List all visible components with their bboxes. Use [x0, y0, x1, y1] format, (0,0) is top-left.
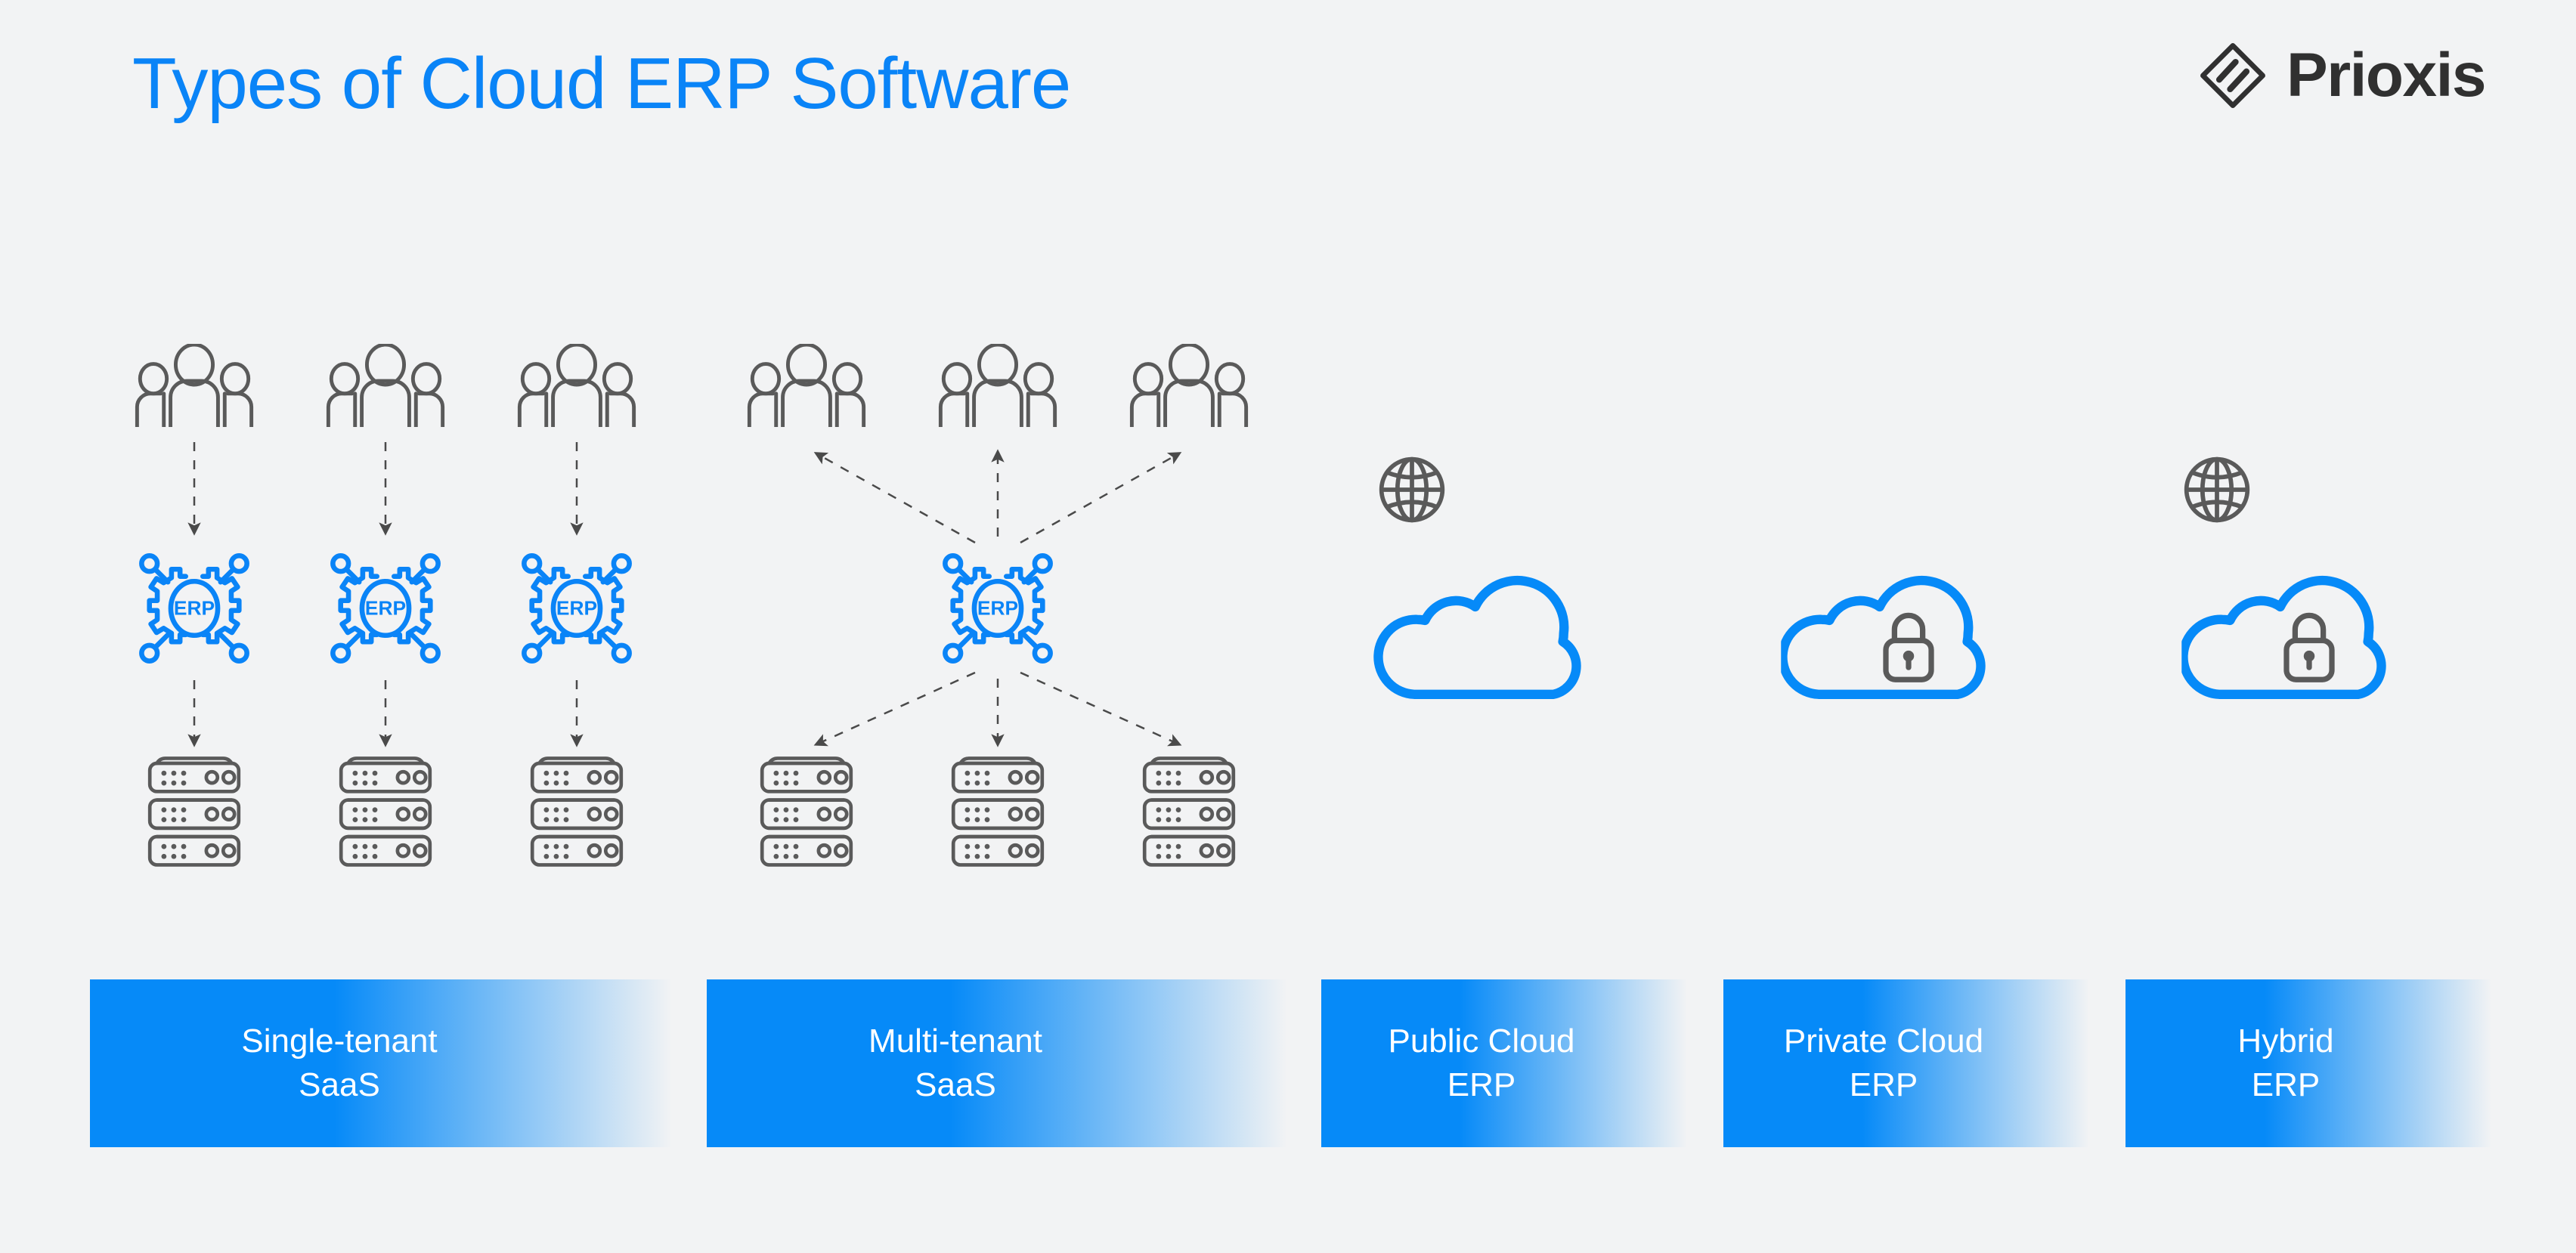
label-line2: SaaS [299, 1063, 380, 1107]
label-line2: SaaS [915, 1063, 996, 1107]
globe-wrap [1376, 453, 1448, 526]
label-bar-single-tenant-saas[interactable]: Single-tenant SaaS [90, 979, 672, 1147]
users-group-icon [126, 344, 262, 427]
cloud-lock-wrap [2173, 567, 2445, 703]
single-tenant-users-row [98, 344, 673, 427]
label-bar-multi-tenant-saas[interactable]: Multi-tenant SaaS [707, 979, 1287, 1147]
server-rack-icon [141, 756, 247, 877]
multi-tenant-erp-row [711, 548, 1285, 669]
label-line1: Single-tenant [241, 1019, 437, 1063]
label-line2: ERP [2252, 1063, 2320, 1107]
label-line1: Hybrid [2237, 1019, 2333, 1063]
users-group-icon [1121, 344, 1257, 427]
globe-wrap [2181, 453, 2253, 526]
single-tenant-erp-row [98, 548, 673, 669]
multi-tenant-server-row [711, 756, 1285, 877]
erp-gear-icon [325, 548, 446, 669]
label-bar-hybrid-erp[interactable]: Hybrid ERP [2126, 979, 2491, 1147]
users-group-icon [738, 344, 875, 427]
cloud-lock-icon [1773, 567, 2045, 703]
users-group-icon [930, 344, 1066, 427]
label-line1: Public Cloud [1388, 1019, 1574, 1063]
diagram-stage: ERP [0, 0, 2576, 982]
server-rack-icon [1136, 756, 1242, 877]
cloud-lock-icon [2173, 567, 2445, 703]
cloud-wrap [1368, 567, 1640, 703]
single-tenant-server-row [98, 756, 673, 877]
cloud-lock-wrap [1773, 567, 2045, 703]
label-bar-public-cloud-erp[interactable]: Public Cloud ERP [1321, 979, 1687, 1147]
users-group-icon [317, 344, 454, 427]
globe-icon [2181, 453, 2253, 526]
globe-icon [1376, 453, 1448, 526]
label-line2: ERP [1850, 1063, 1918, 1107]
label-line1: Private Cloud [1784, 1019, 1983, 1063]
erp-gear-icon [134, 548, 255, 669]
label-line2: ERP [1447, 1063, 1516, 1107]
server-rack-icon [524, 756, 630, 877]
multi-tenant-users-row [711, 344, 1285, 427]
cloud-icon [1368, 567, 1640, 703]
server-rack-icon [754, 756, 859, 877]
server-rack-icon [945, 756, 1051, 877]
label-bars: Single-tenant SaaS Multi-tenant SaaS Pub… [0, 979, 2576, 1152]
label-line1: Multi-tenant [868, 1019, 1042, 1063]
users-group-icon [509, 344, 645, 427]
erp-gear-icon [937, 548, 1058, 669]
server-rack-icon [333, 756, 438, 877]
erp-gear-icon [516, 548, 637, 669]
label-bar-private-cloud-erp[interactable]: Private Cloud ERP [1723, 979, 2089, 1147]
